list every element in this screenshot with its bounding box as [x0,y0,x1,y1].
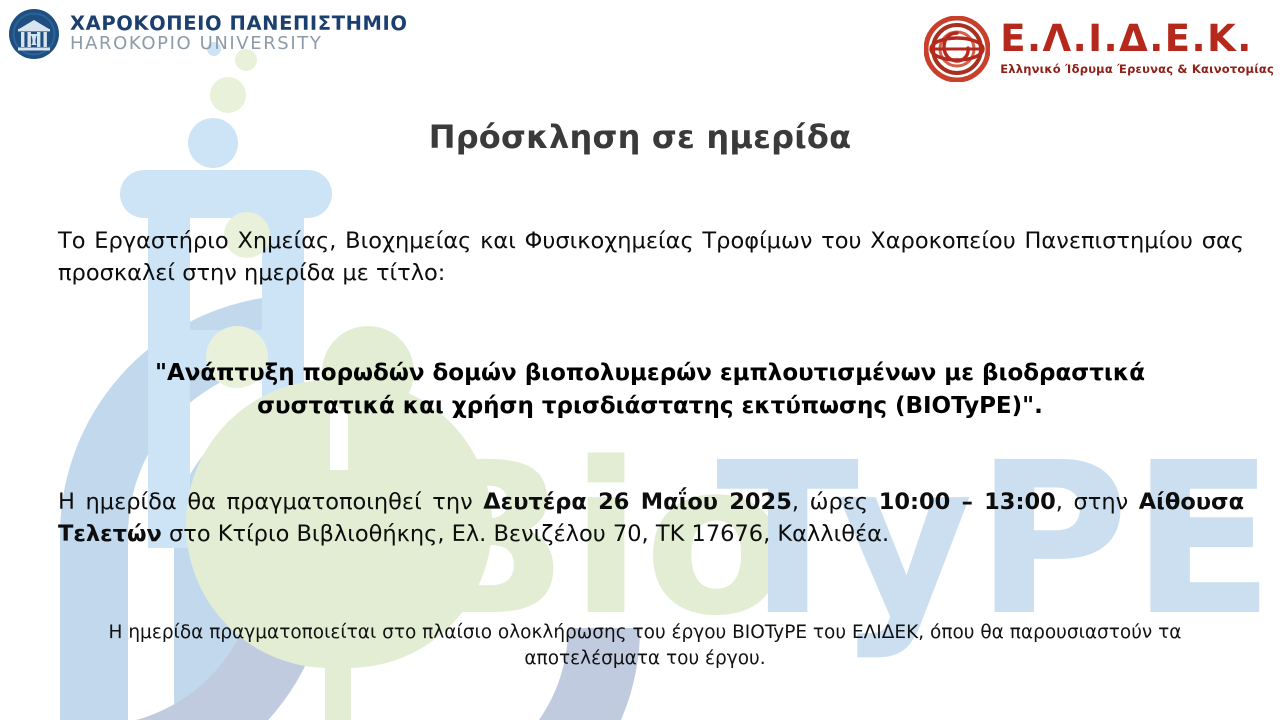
details-prefix: Η ημερίδα θα πραγματοποιηθεί την [58,489,483,515]
footer-note: Η ημερίδα πραγματοποιείται στο πλαίσιο ο… [100,620,1190,672]
intro-text: Το Εργαστήριο Χημείας, Βιοχημείας και Φυ… [58,228,1244,286]
event-title: "Ανάπτυξη πορωδών δομών βιοπολυμερών εμπ… [80,357,1220,423]
elidek-logo: Ε.Λ.Ι.Δ.Ε.Κ. Ελληνικό Ίδρυμα Έρευνας & Κ… [924,16,1274,82]
harokopio-university-logo: ΧΑΡΟΚΟΠΕΙΟ ΠΑΝΕΠΙΣΤΗΜΙΟ HAROKOPIO UNIVER… [8,8,408,60]
intro-paragraph: Το Εργαστήριο Χημείας, Βιοχημείας και Φυ… [58,226,1244,290]
elidek-acronym: Ε.Λ.Ι.Δ.Ε.Κ. [1000,20,1274,57]
details-suffix: στο Κτίριο Βιβλιοθήκης, Ελ. Βενιζέλου 70… [162,521,889,547]
university-name-gr: ΧΑΡΟΚΟΠΕΙΟ ΠΑΝΕΠΙΣΤΗΜΙΟ [70,14,408,34]
university-name-en: HAROKOPIO UNIVERSITY [70,35,408,54]
event-title-line1: "Ανάπτυξη πορωδών δομών βιοπολυμερών εμπ… [155,360,1145,386]
details-mid1: , ώρες [792,489,879,515]
event-time: 10:00 – 13:00 [879,489,1056,515]
harokopio-seal-icon [8,8,60,60]
elidek-tagline: Ελληνικό Ίδρυμα Έρευνας & Καινοτομίας [1000,62,1274,76]
page-title: Πρόσκληση σε ημερίδα [0,118,1280,156]
event-date: Δευτέρα 26 Μαΐου 2025 [483,489,792,515]
page-header: ΧΑΡΟΚΟΠΕΙΟ ΠΑΝΕΠΙΣΤΗΜΙΟ HAROKOPIO UNIVER… [0,0,1280,95]
details-mid2: , στην [1056,489,1139,515]
invitation-content: Πρόσκληση σε ημερίδα Το Εργαστήριο Χημεί… [0,0,1280,720]
event-title-line2: συστατικά και χρήση τρισδιάστατης εκτύπω… [257,393,1043,419]
details-paragraph: Η ημερίδα θα πραγματοποιηθεί την Δευτέρα… [58,487,1244,551]
elidek-emblem-icon [924,16,990,82]
